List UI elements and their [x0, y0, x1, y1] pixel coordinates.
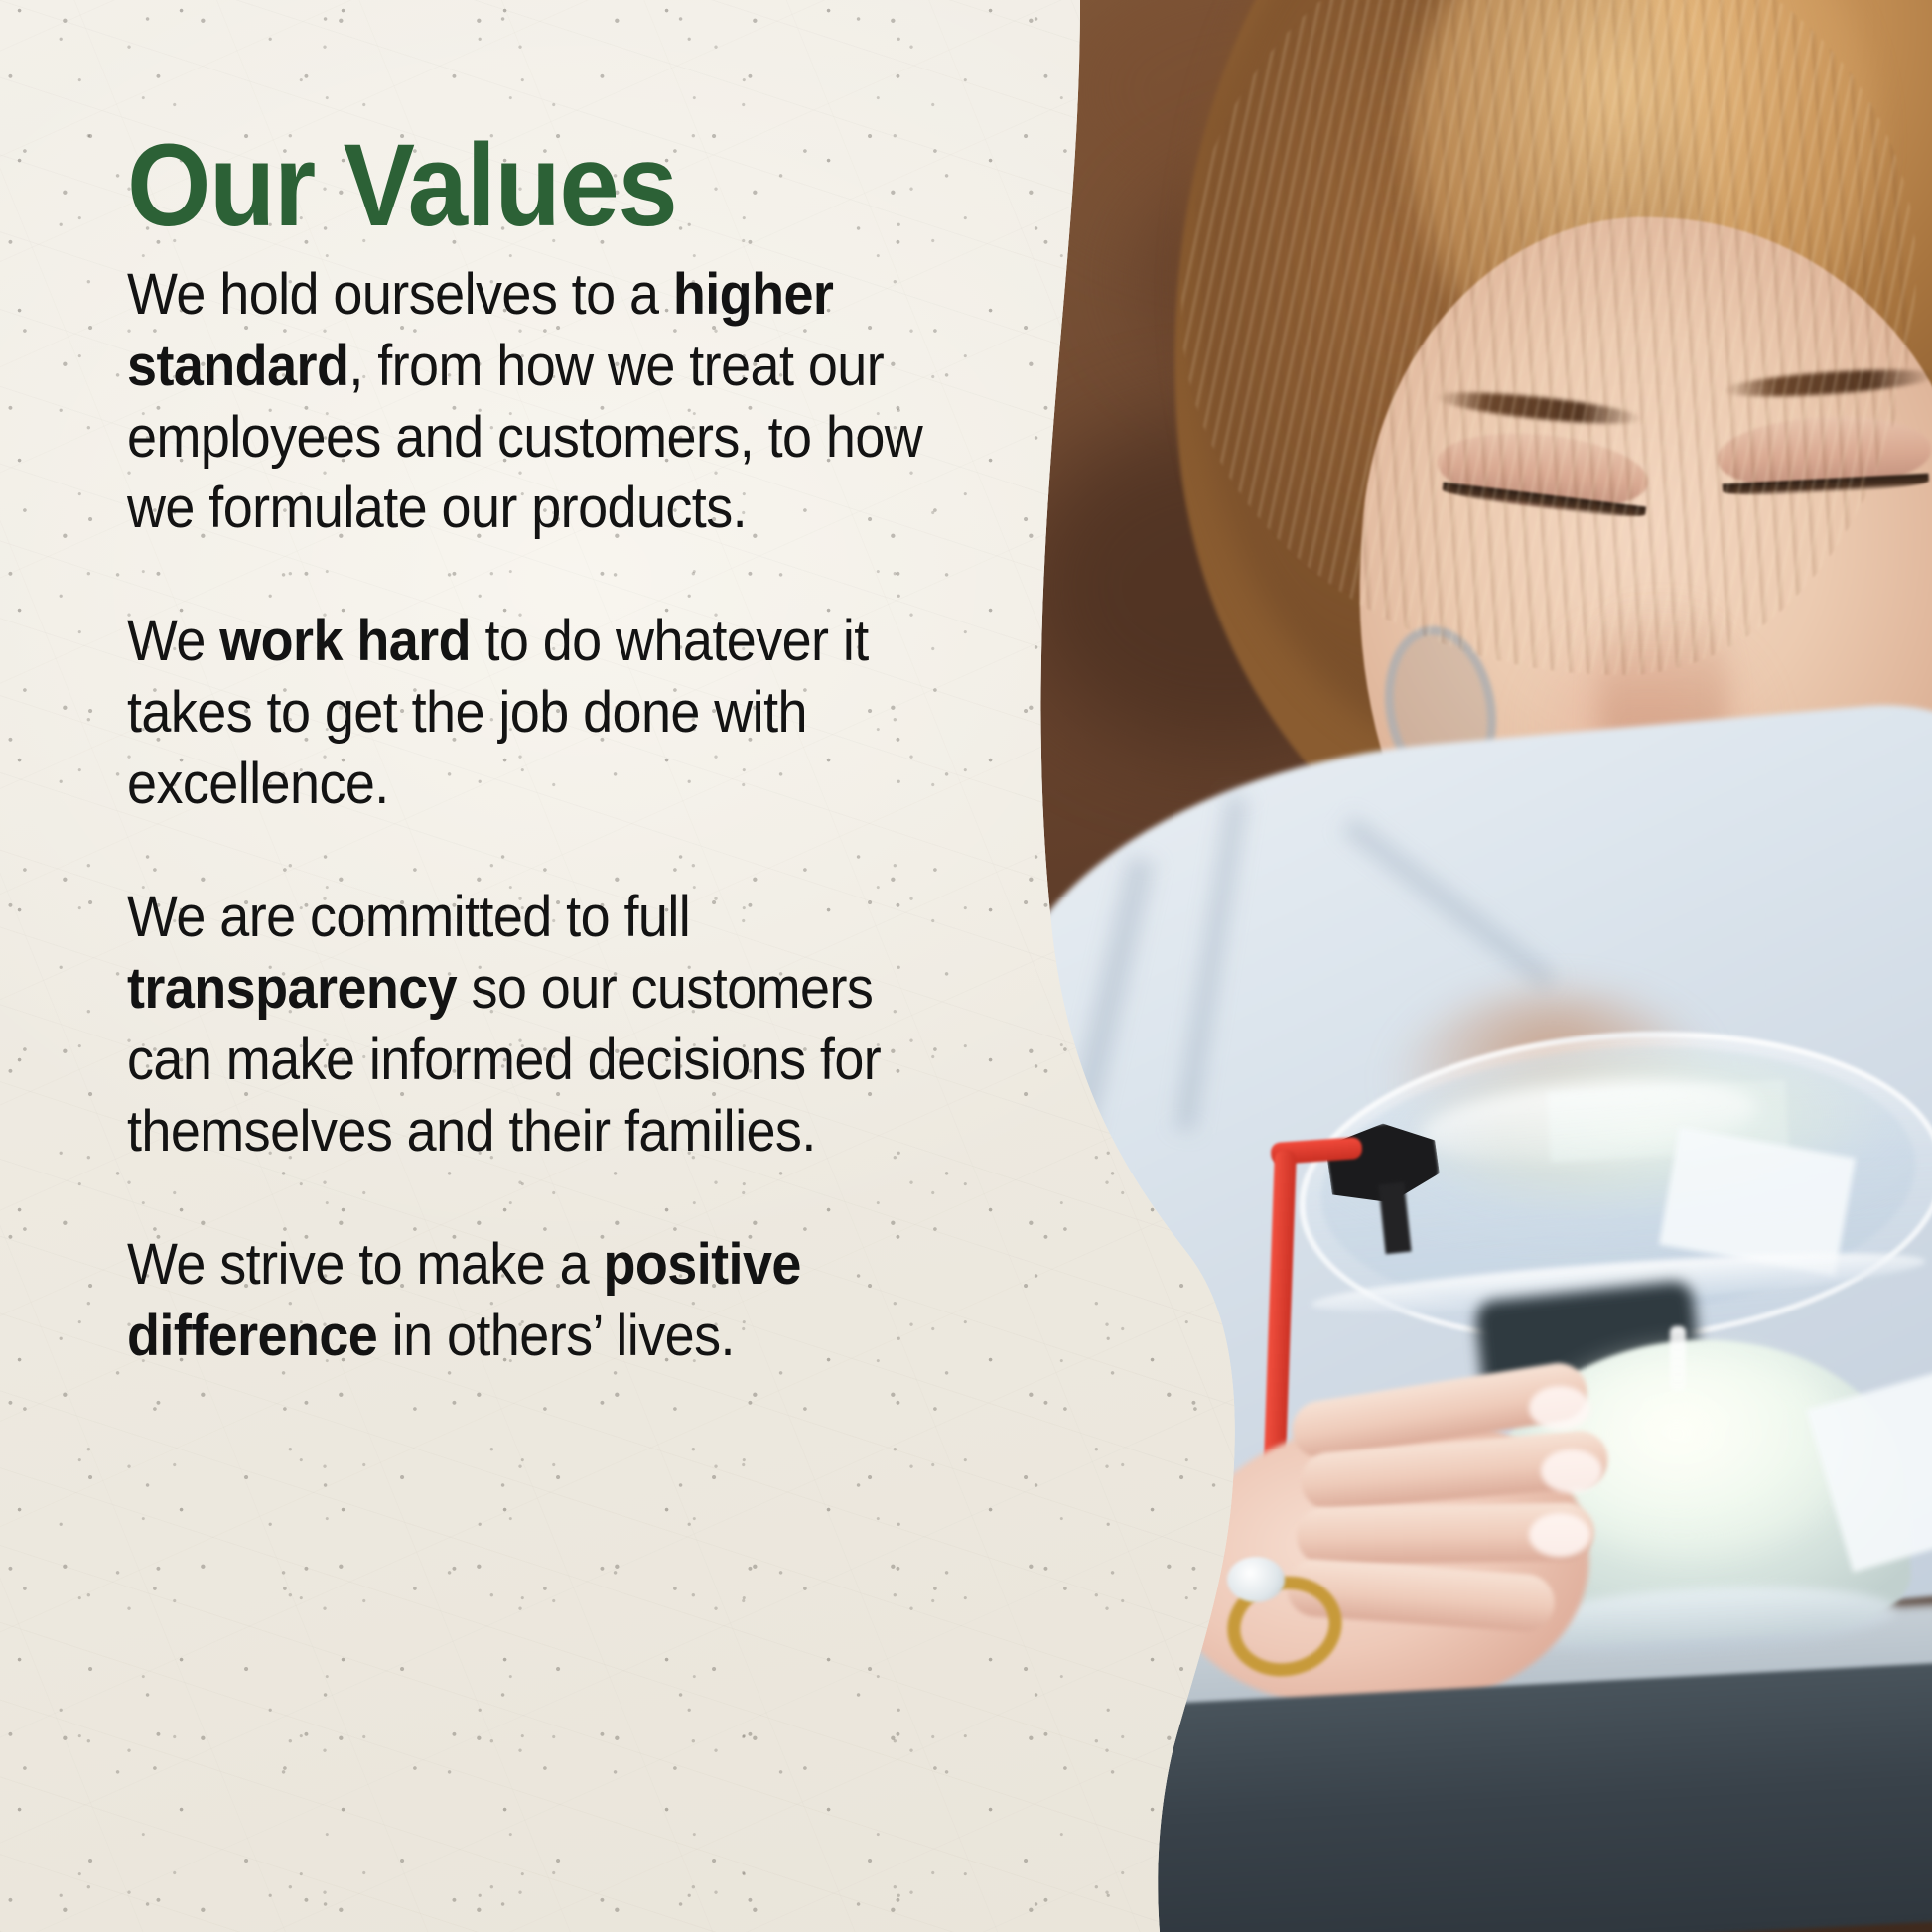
values-graphic: Our Values We hold ourselves to a higher…	[0, 0, 1932, 1932]
value-text: We	[127, 609, 219, 673]
value-statement-higher-standard: We hold ourselves to a higher standard, …	[127, 259, 939, 545]
value-text: We are committed to full	[127, 885, 690, 949]
value-text: in others’ lives.	[377, 1304, 735, 1368]
fingernail	[1529, 1386, 1590, 1430]
ring-gemstone	[1227, 1557, 1285, 1602]
value-text: We hold ourselves to a	[127, 262, 673, 327]
value-keyword: transparency	[127, 956, 457, 1021]
fingernail	[1541, 1449, 1602, 1493]
value-statement-work-hard: We work hard to do whatever it takes to …	[127, 606, 939, 820]
value-text: We strive to make a	[127, 1232, 603, 1297]
values-content: Our Values We hold ourselves to a higher…	[127, 125, 1050, 1372]
values-list: We hold ourselves to a higher standard, …	[127, 259, 1050, 1372]
value-statement-transparency: We are committed to full transparency so…	[127, 882, 939, 1168]
page-title: Our Values	[127, 125, 977, 247]
value-statement-positive-difference: We strive to make a positive difference …	[127, 1229, 939, 1372]
value-keyword: work hard	[219, 609, 471, 673]
candle-wick	[1670, 1326, 1686, 1392]
fingernail	[1529, 1513, 1590, 1557]
